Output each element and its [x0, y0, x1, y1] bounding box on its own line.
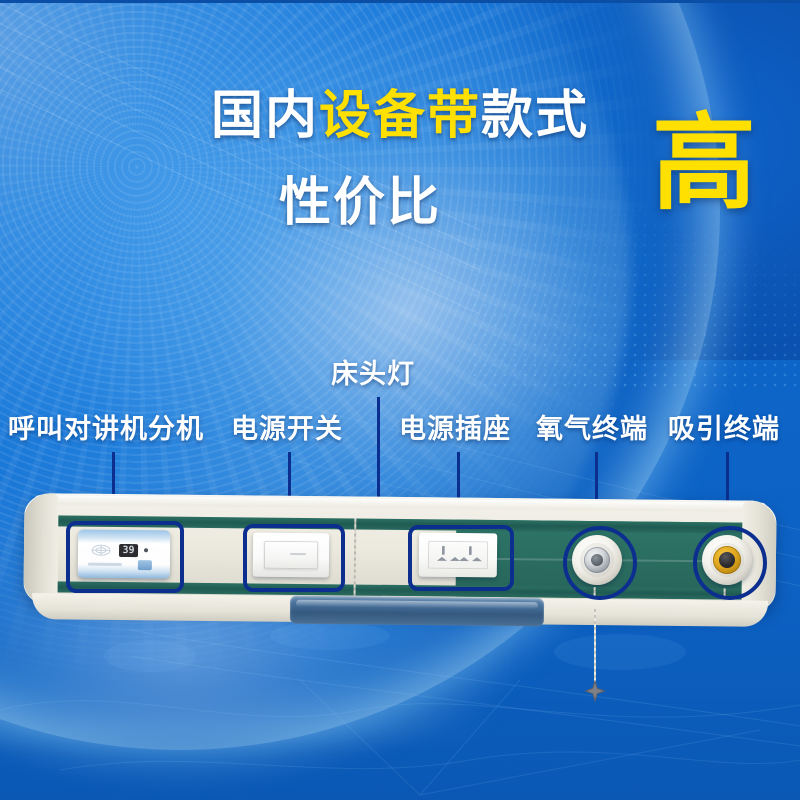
pull-cord-handle-icon[interactable] [583, 680, 607, 704]
highlight-circle-oxygen-terminal [563, 526, 637, 600]
highlight-circle-suction-terminal [693, 526, 767, 600]
callout-label-power-socket: 电源插座 [399, 414, 511, 444]
headline-part-1: 国内 [211, 87, 319, 145]
lamp-pull-cord[interactable] [594, 606, 596, 684]
headline-subtitle: 性价比 [279, 160, 441, 235]
panel-top-edge [34, 495, 766, 512]
highlight-box-intercom [66, 521, 184, 593]
highlight-box-power-socket [408, 525, 514, 591]
callout-label-intercom: 呼叫对讲机分机 [8, 414, 204, 444]
promo-image: 国内设备带款式 性价比 高 呼叫对讲机分机 电源开关 床头灯 电源插座 氧气终端… [0, 0, 800, 800]
callout-label-power-switch: 电源开关 [231, 414, 343, 444]
headline-part-2: 款式 [481, 87, 589, 145]
headline-emphasis-high: 高 [652, 112, 756, 216]
panel-end-cap-left [23, 493, 58, 605]
callout-label-bed-lamp: 床头灯 [331, 359, 415, 389]
headline-block: 国内设备带款式 性价比 高 [0, 88, 800, 144]
top-edge-bar [0, 0, 800, 3]
highlight-box-power-switch [243, 524, 345, 592]
headline-accent: 设备带 [319, 87, 481, 145]
callout-label-oxygen-terminal: 氧气终端 [536, 414, 648, 444]
callout-label-suction-terminal: 吸引终端 [668, 414, 780, 444]
